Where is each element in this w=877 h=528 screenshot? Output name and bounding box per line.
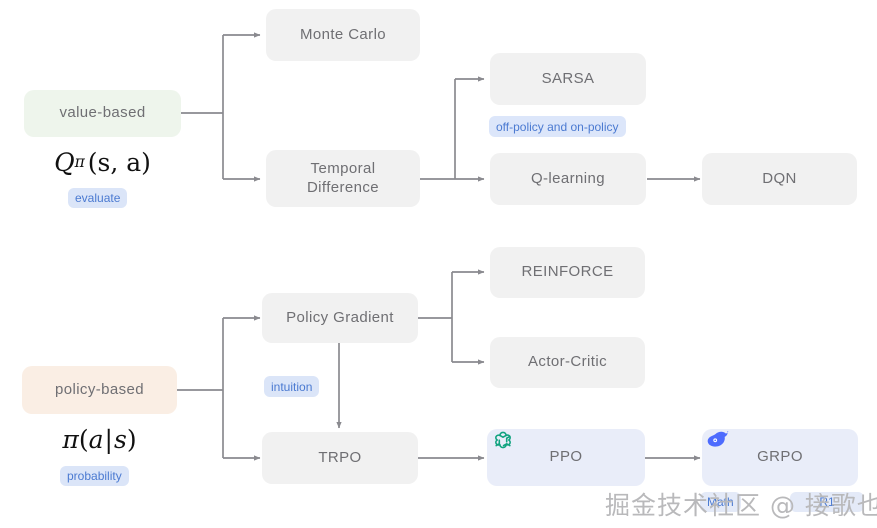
- node-policy-based-label: policy-based: [55, 381, 144, 400]
- badge-off-policy-and-on-policy-label: off-policy and on-policy: [496, 120, 619, 134]
- badge-evaluate-label: evaluate: [75, 191, 120, 205]
- formula-policy-function: π(a|s): [22, 419, 177, 459]
- badge-math[interactable]: Math: [700, 492, 741, 512]
- node-sarsa[interactable]: SARSA: [490, 53, 646, 105]
- node-dqn-label: DQN: [762, 170, 797, 189]
- node-q-learning[interactable]: Q-learning: [490, 153, 646, 205]
- formula-pi-open: (: [79, 425, 89, 454]
- formula-pi-close: ): [127, 425, 137, 454]
- formula-pi-base: π: [62, 425, 78, 454]
- diagram-canvas: value-based Qπ(s, a) evaluate Monte Carl…: [0, 0, 877, 528]
- badge-evaluate[interactable]: evaluate: [68, 188, 127, 208]
- badge-r1[interactable]: R1: [790, 492, 864, 512]
- node-q-learning-label: Q-learning: [531, 170, 605, 189]
- badge-intuition[interactable]: intuition: [264, 376, 319, 397]
- badge-probability-label: probability: [67, 469, 122, 483]
- badge-r1-label: R1: [819, 495, 834, 509]
- formula-q-args: (s, a): [85, 148, 151, 177]
- badge-probability[interactable]: probability: [60, 466, 129, 486]
- node-trpo[interactable]: TRPO: [262, 432, 418, 484]
- node-grpo-label: GRPO: [757, 448, 803, 467]
- node-value-based-label: value-based: [59, 104, 145, 123]
- formula-pi-bar: |: [104, 425, 114, 454]
- node-temporal-difference[interactable]: Temporal Difference: [266, 150, 420, 207]
- badge-off-policy-and-on-policy[interactable]: off-policy and on-policy: [489, 116, 626, 137]
- node-value-based[interactable]: value-based: [24, 90, 181, 137]
- deepseek-logo-icon: [706, 428, 732, 452]
- formula-q-function: Qπ(s, a): [24, 142, 181, 182]
- node-actor-critic-label: Actor-Critic: [528, 353, 607, 372]
- node-monte-carlo-label: Monte Carlo: [300, 26, 386, 45]
- formula-pi-right: s: [114, 425, 127, 454]
- openai-logo-icon: [491, 429, 515, 453]
- formula-q-subscript: π: [75, 153, 85, 171]
- node-temporal-difference-label-line2: Difference: [307, 179, 379, 198]
- node-reinforce-label: REINFORCE: [522, 263, 614, 282]
- node-sarsa-label: SARSA: [542, 70, 595, 89]
- node-monte-carlo[interactable]: Monte Carlo: [266, 9, 420, 61]
- formula-q-base: Q: [54, 148, 75, 177]
- badge-math-label: Math: [707, 495, 734, 509]
- node-policy-gradient[interactable]: Policy Gradient: [262, 293, 418, 343]
- node-reinforce[interactable]: REINFORCE: [490, 247, 645, 298]
- node-trpo-label: TRPO: [318, 449, 361, 468]
- node-temporal-difference-label-line1: Temporal: [311, 160, 376, 179]
- formula-pi-left: a: [89, 425, 104, 454]
- node-dqn[interactable]: DQN: [702, 153, 857, 205]
- node-actor-critic[interactable]: Actor-Critic: [490, 337, 645, 388]
- node-policy-gradient-label: Policy Gradient: [286, 309, 394, 328]
- node-policy-based[interactable]: policy-based: [22, 366, 177, 414]
- node-ppo-label: PPO: [550, 448, 583, 467]
- badge-intuition-label: intuition: [271, 380, 312, 394]
